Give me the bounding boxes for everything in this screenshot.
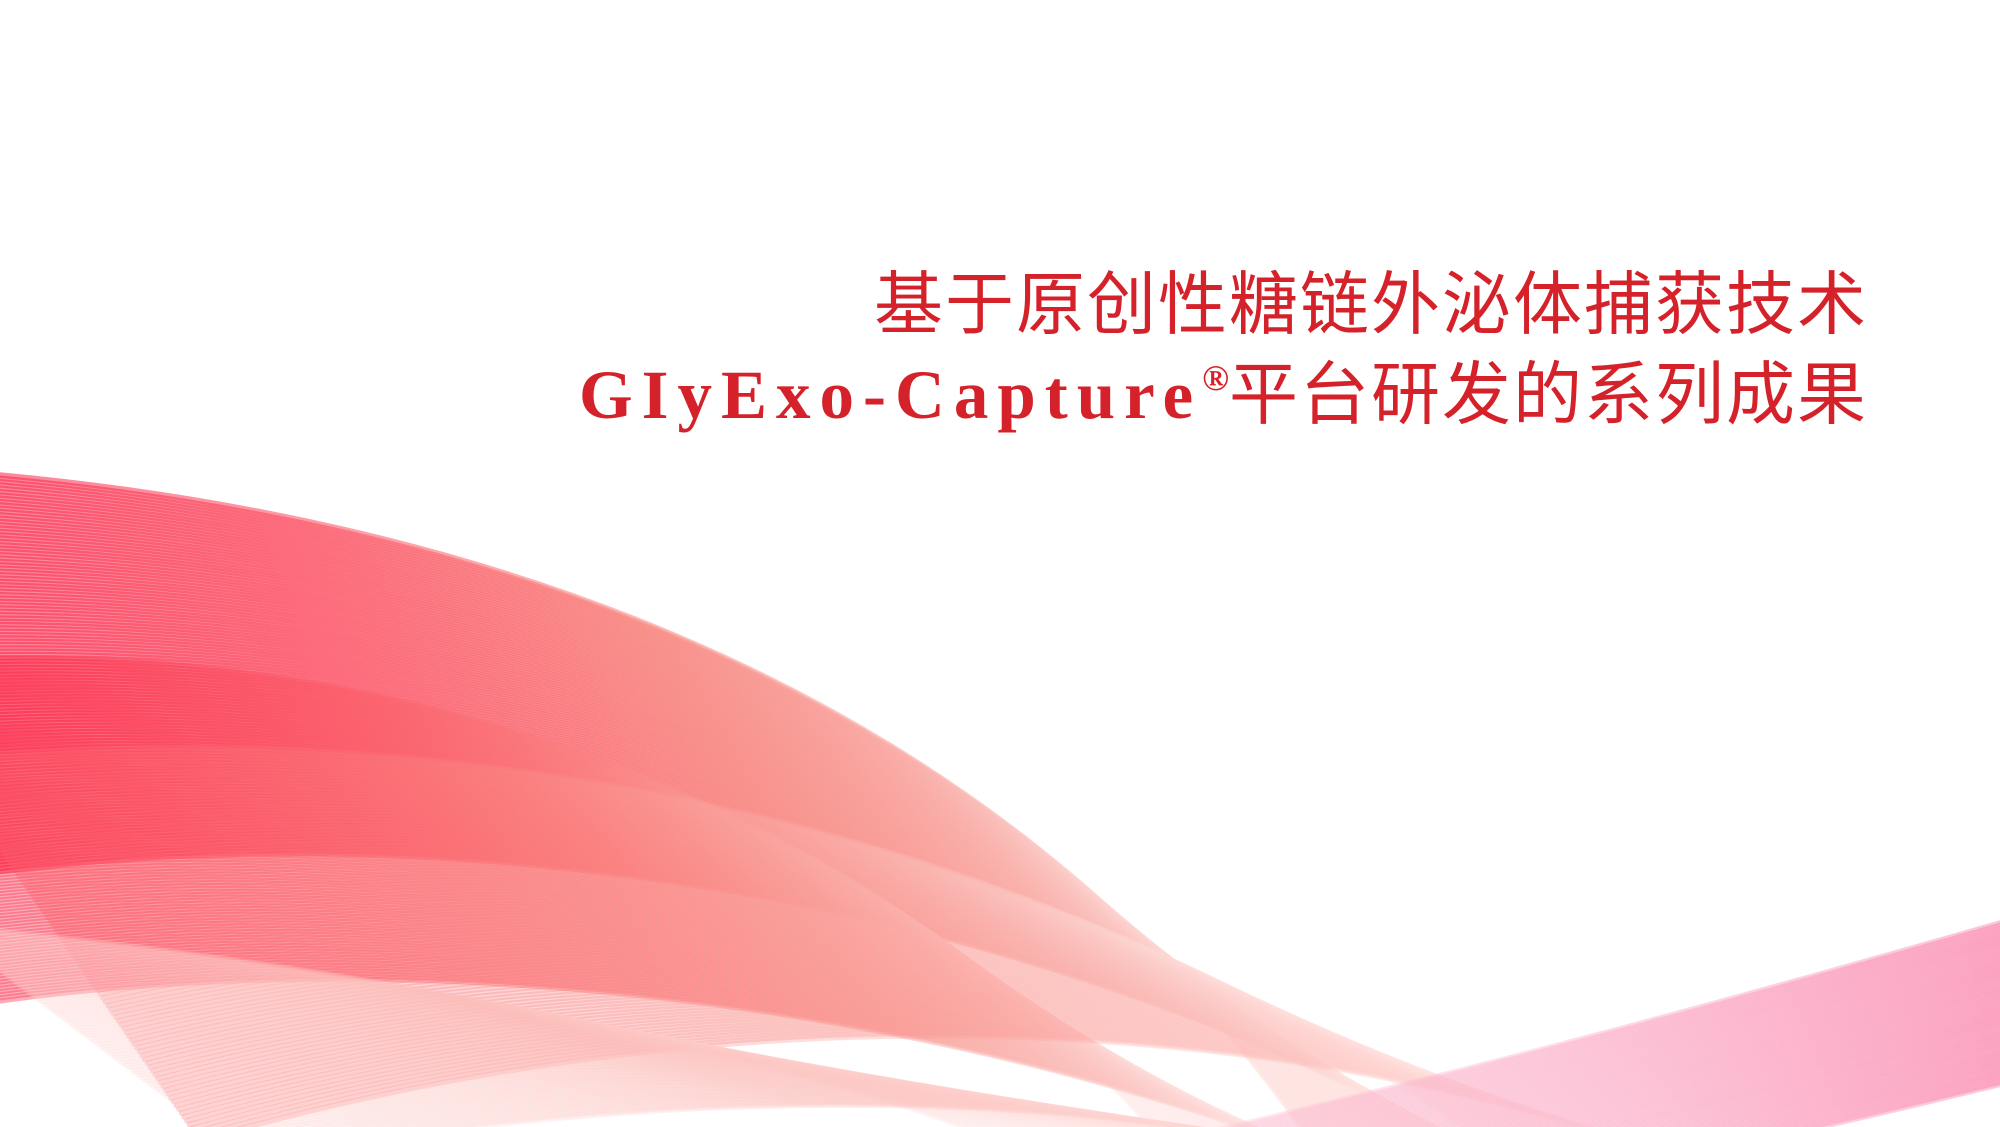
platform-name-suffix: 平台研发的系列成果 xyxy=(1229,356,1868,433)
abstract-wave-ribbon xyxy=(0,0,2000,1127)
wave-band-sheet xyxy=(0,748,1760,1127)
registered-trademark-icon: ® xyxy=(1202,358,1229,398)
platform-name-latin: GIyExo-Capture xyxy=(579,357,1202,433)
wave-band-accent-pink xyxy=(900,905,2000,1127)
title-line-primary: 基于原创性糖链外泌体捕获技术 xyxy=(0,268,1868,341)
wave-band-secondary xyxy=(0,658,1430,1127)
slide-canvas: 基于原创性糖链外泌体捕获技术 GIyExo-Capture®平台研发的系列成果 xyxy=(0,0,2000,1127)
wave-band-primary xyxy=(0,470,1560,1127)
wave-band-underfan xyxy=(0,925,1520,1127)
slide-title-block: 基于原创性糖链外泌体捕获技术 GIyExo-Capture®平台研发的系列成果 xyxy=(0,268,1868,432)
title-line-secondary: GIyExo-Capture®平台研发的系列成果 xyxy=(0,358,1868,432)
